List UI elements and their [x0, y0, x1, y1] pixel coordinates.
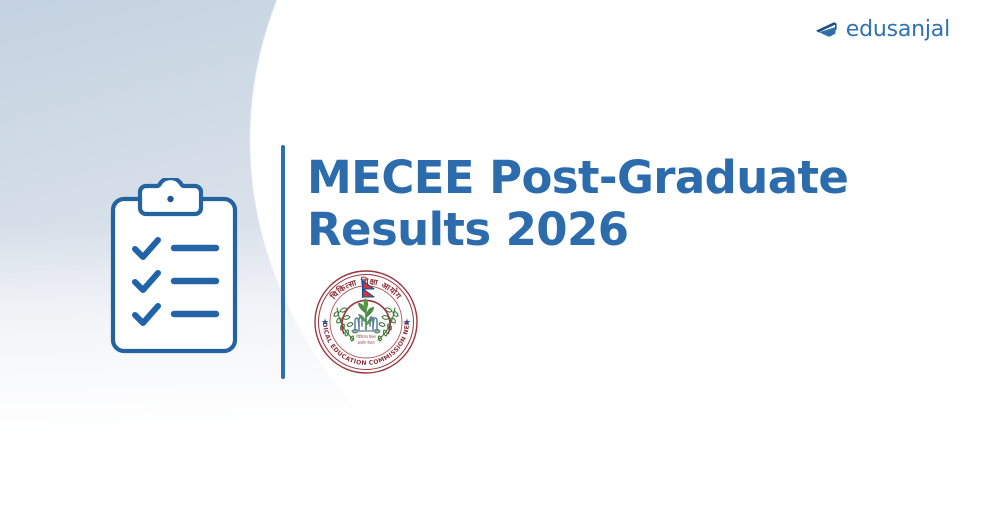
seal-star-right: ★ [403, 318, 411, 328]
seal-inscription-line1: चिकित्सा शिक्षा [356, 334, 375, 339]
background-right-fade [580, 0, 1000, 523]
clipboard-clip-dot [167, 196, 173, 202]
seal-inscription-line2: आयोग नेपाल [357, 340, 375, 345]
vertical-divider [281, 145, 285, 379]
clipboard-checklist-illustration [104, 178, 249, 358]
medical-education-commission-nepal-seal: चिकित्सा शिक्षा आयोग MEDICAL EDUCATION C… [312, 268, 420, 376]
graduation-cap-icon [814, 19, 844, 41]
page-title: MECEE Post-Graduate Results 2026 [307, 152, 947, 256]
seal-star-left: ★ [321, 318, 329, 328]
clipboard-body [113, 199, 235, 351]
edusanjal-logo[interactable]: edusanjal [814, 15, 950, 45]
brand-name: edusanjal [846, 19, 950, 41]
banner-image: edusanjal MECEE Post-Graduate Results 20… [0, 0, 1000, 523]
